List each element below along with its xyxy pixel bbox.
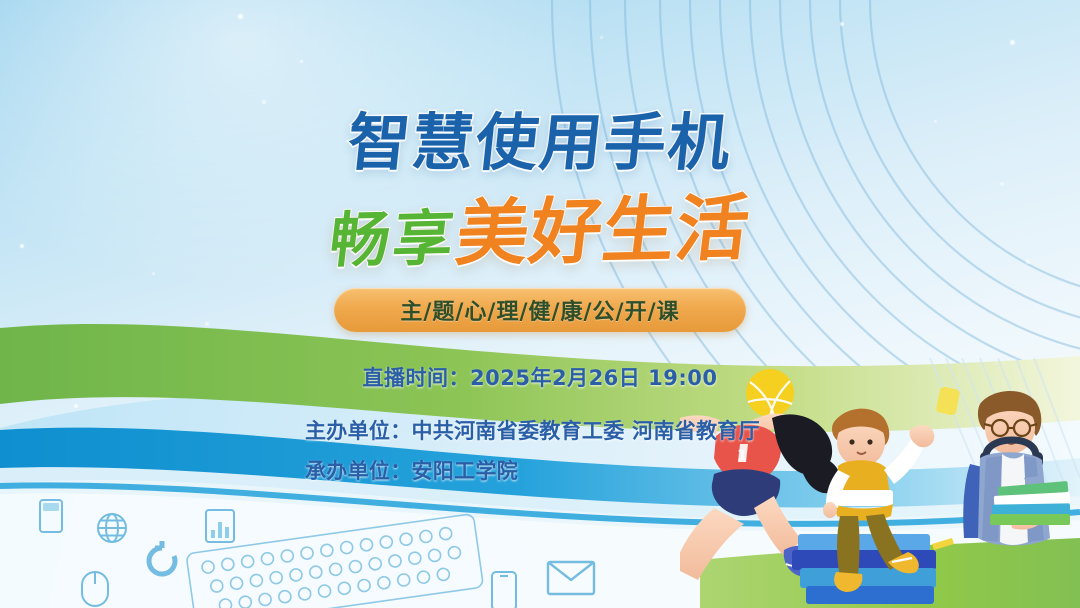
title-main-text: 智慧使用手机	[345, 112, 736, 174]
topic-badge-label: 主/题/心/理/健/康/公/开/课	[400, 294, 679, 326]
live-time-line: 直播时间：2025年2月26日 19:00	[0, 362, 1080, 392]
subtitle-green-text: 畅享	[326, 204, 461, 277]
poster-content: 智慧使用手机 畅享美好生活 主/题/心/理/健/康/公/开/课 直播时间：202…	[0, 0, 1080, 608]
topic-badge: 主/题/心/理/健/康/公/开/课	[334, 288, 746, 332]
page-subtitle: 畅享美好生活	[0, 185, 1080, 280]
subtitle-orange-text: 美好生活	[452, 185, 755, 276]
organizer-unit-line: 承办单位：安阳工学院	[305, 455, 518, 485]
poster-canvas: 1	[0, 0, 1080, 608]
host-unit-line: 主办单位：中共河南省委教育工委 河南省教育厅	[305, 415, 760, 445]
page-title: 智慧使用手机	[0, 112, 1080, 174]
